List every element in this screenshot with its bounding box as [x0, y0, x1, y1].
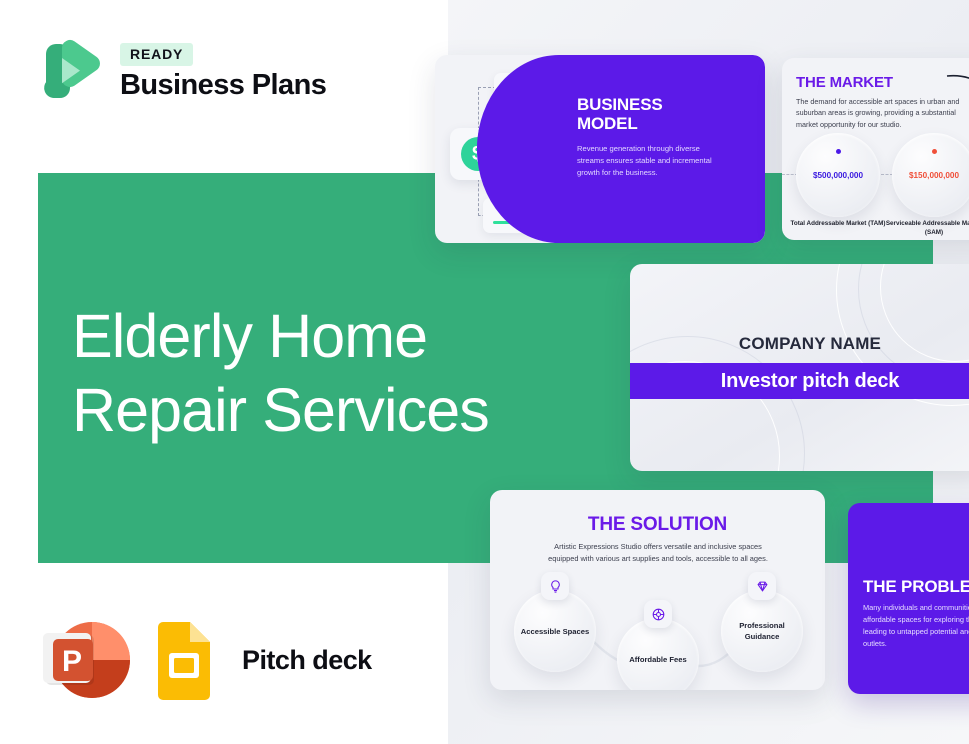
diamond-icon	[748, 572, 776, 600]
google-slides-icon	[152, 620, 216, 700]
investor-pitch-band: Investor pitch deck	[630, 363, 969, 399]
metric-value: $150,000,000	[892, 171, 969, 180]
format-footer: P Pitch deck	[40, 617, 372, 703]
metric-caption-2: Serviceable Addressable Market (SAM)	[884, 220, 969, 238]
problem-description: Many individuals and communities lack ac…	[863, 602, 969, 650]
poster-canvas: READY Business Plans Elderly Home Repair…	[0, 0, 969, 744]
business-model-title: BUSINESS MODEL	[577, 95, 751, 133]
curved-arrow-icon	[945, 72, 969, 108]
metric-dot-icon	[836, 149, 841, 154]
investor-pitch-label: Investor pitch deck	[630, 363, 969, 399]
page-title: Elderly Home Repair Services	[72, 300, 542, 448]
market-metric-1: $500,000,000	[796, 133, 880, 217]
title-line-1: BUSINESS	[577, 95, 751, 114]
title-line-2: MODEL	[577, 114, 751, 133]
page-title-line-2: Repair Services	[72, 374, 542, 448]
page-title-line-1: Elderly Home	[72, 300, 542, 374]
node-label: Professional Guidance	[721, 620, 803, 642]
metric-value: $500,000,000	[796, 171, 880, 180]
decor-ring-5	[630, 336, 805, 471]
brand-title: Business Plans	[120, 70, 326, 100]
powerpoint-icon: P	[40, 617, 132, 703]
brand-text-block: READY Business Plans	[120, 43, 326, 100]
problem-title: THE PROBLEM	[863, 577, 969, 597]
ready-badge: READY	[120, 43, 193, 66]
svg-text:P: P	[62, 645, 82, 678]
solution-node-3[interactable]: Professional Guidance	[721, 590, 803, 672]
slide-company-name[interactable]: COMPANY NAME Investor pitch deck	[630, 264, 969, 471]
business-model-text-block: BUSINESS MODEL Revenue generation throug…	[559, 55, 765, 243]
slide-the-problem[interactable]: THE PROBLEM Many individuals and communi…	[848, 503, 969, 694]
node-label: Accessible Spaces	[521, 626, 589, 637]
business-model-description: Revenue generation through diverse strea…	[577, 143, 727, 178]
market-title: THE MARKET	[796, 74, 893, 91]
brand-header: READY Business Plans	[38, 36, 326, 108]
solution-node-1[interactable]: Accessible Spaces	[514, 590, 596, 672]
slide-the-market[interactable]: THE MARKET The demand for accessible art…	[782, 58, 969, 240]
lightbulb-icon	[541, 572, 569, 600]
play-triangle-logo-icon	[38, 36, 106, 108]
company-name-heading: COMPANY NAME	[630, 334, 969, 354]
slide-the-solution[interactable]: THE SOLUTION Artistic Expressions Studio…	[490, 490, 825, 690]
solution-node-2[interactable]: Affordable Fees	[617, 618, 699, 690]
market-description: The demand for accessible art spaces in …	[796, 96, 969, 130]
market-metric-2: $150,000,000	[892, 133, 969, 217]
metric-caption-1: Total Addressable Market (TAM)	[788, 220, 888, 229]
coin-circle-icon	[644, 600, 672, 628]
slide-business-model[interactable]: $ Drop-in Fees Session Workshops Commiss…	[435, 55, 765, 243]
metric-dot-icon	[932, 149, 937, 154]
footer-label: Pitch deck	[242, 645, 372, 676]
node-label: Affordable Fees	[629, 654, 686, 665]
